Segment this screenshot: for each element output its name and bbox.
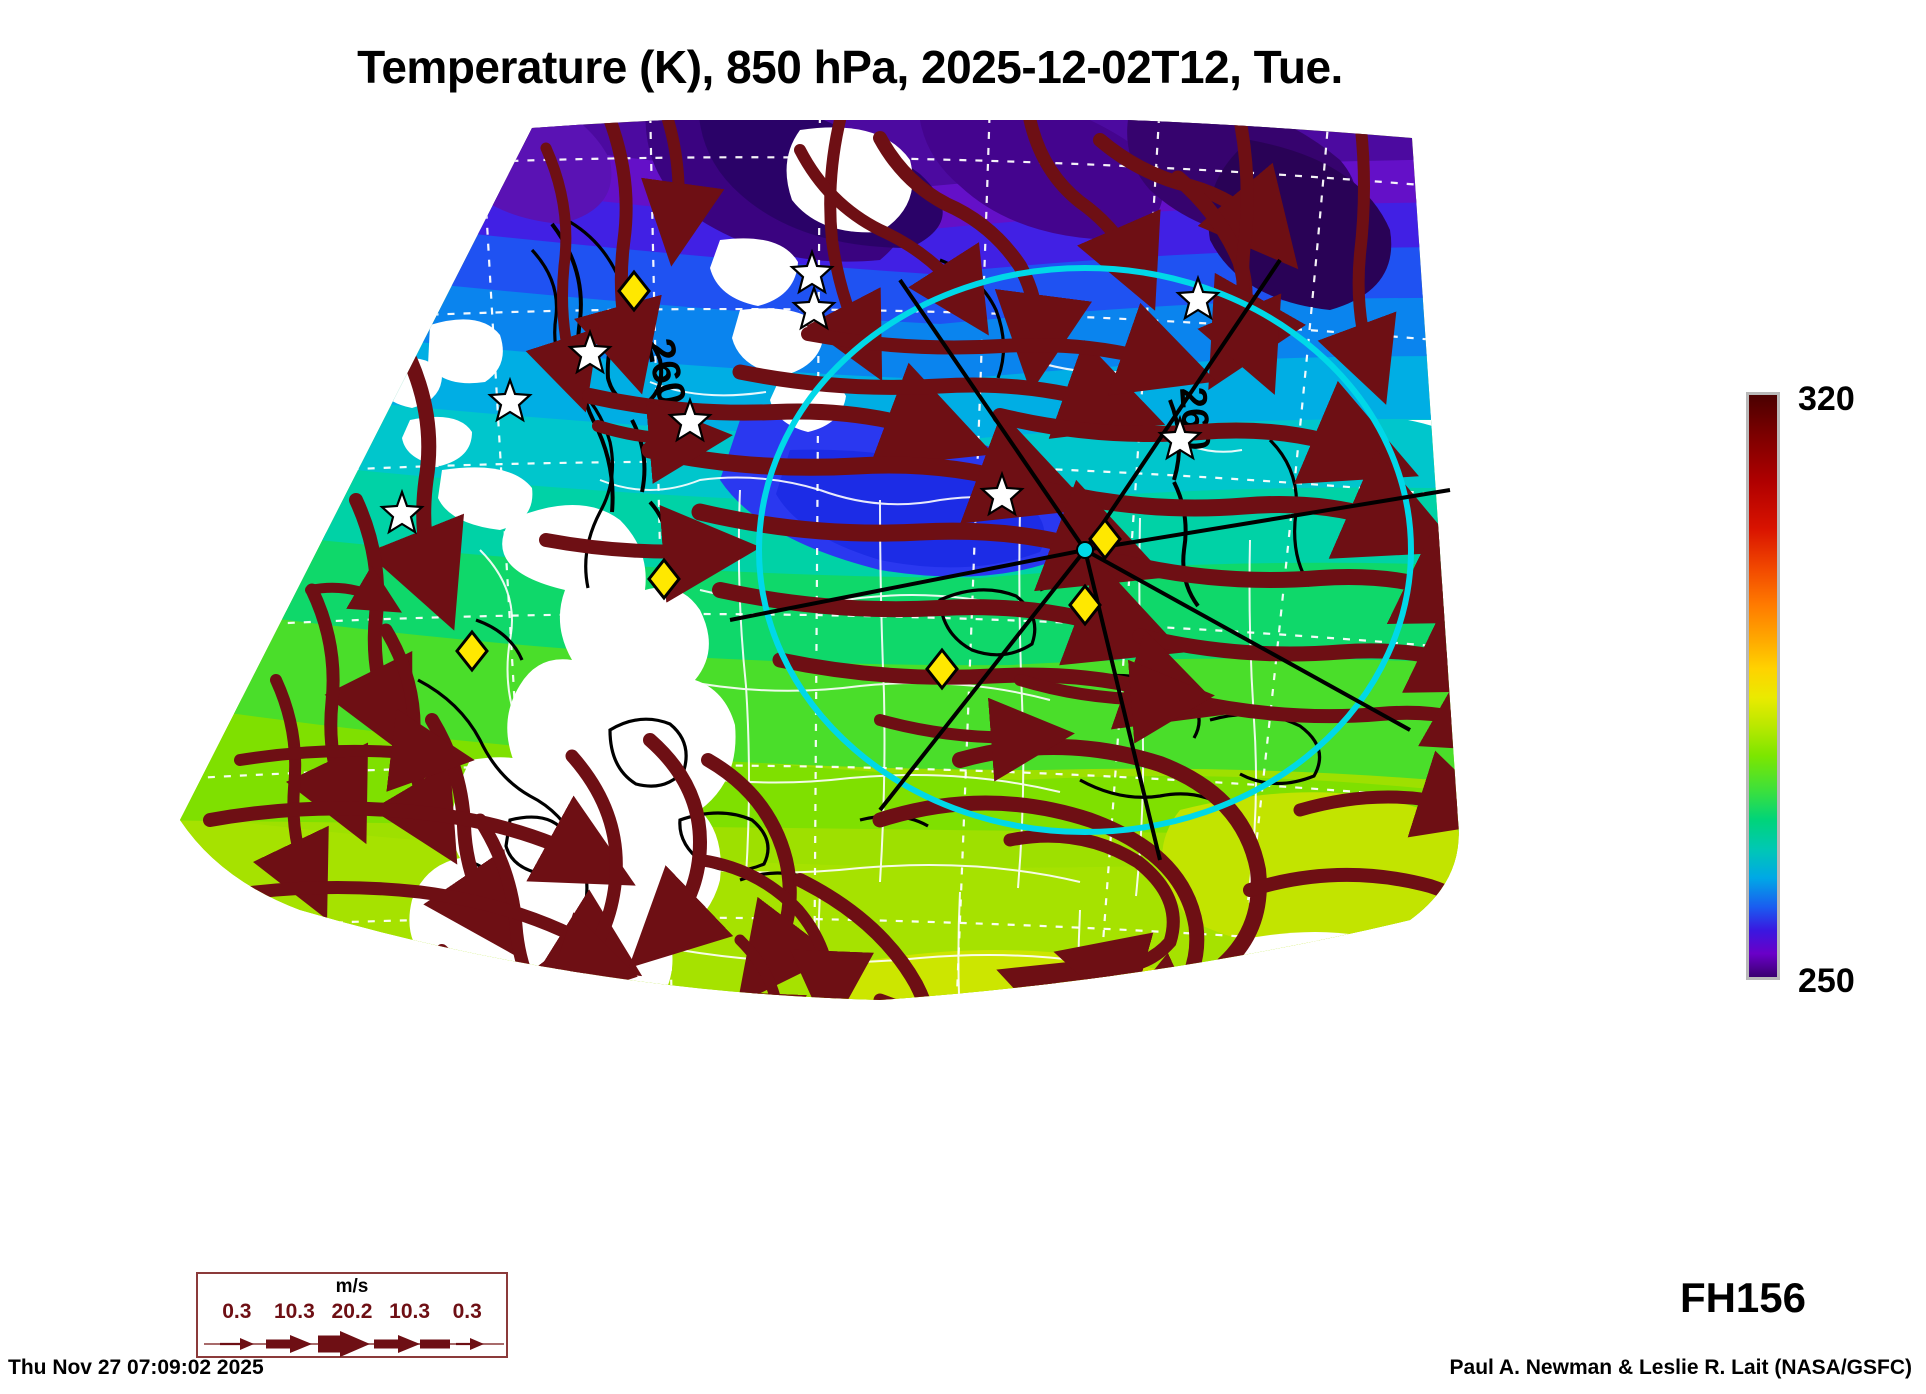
wind-tick: 20.2 <box>323 1300 381 1324</box>
wind-tick: 10.3 <box>266 1300 324 1324</box>
range-ring-center-marker[interactable] <box>1077 542 1093 558</box>
map-panel[interactable]: 260 260 <box>180 120 1700 1190</box>
wind-arrow-scale <box>198 1330 506 1358</box>
colorbar-min-label: 250 <box>1798 964 1855 998</box>
generated-timestamp: Thu Nov 27 07:09:02 2025 <box>8 1356 264 1380</box>
colorbar-max-label: 320 <box>1798 382 1855 416</box>
weather-map-svg[interactable]: 260 260 <box>180 120 1700 1190</box>
wind-tick: 0.3 <box>208 1300 266 1324</box>
wind-tick-row: 0.3 10.3 20.2 10.3 0.3 <box>198 1300 506 1324</box>
wind-tick: 0.3 <box>438 1300 496 1324</box>
forecast-hour-label: FH156 <box>1680 1274 1806 1322</box>
page-title: Temperature (K), 850 hPa, 2025-12-02T12,… <box>0 40 1700 94</box>
wind-arrow-head <box>398 1335 420 1353</box>
wind-units-label: m/s <box>198 1276 506 1298</box>
author-credit: Paul A. Newman & Leslie R. Lait (NASA/GS… <box>1450 1356 1912 1380</box>
wind-tick: 10.3 <box>381 1300 439 1324</box>
temperature-colorbar[interactable]: 320 250 <box>1742 388 1922 988</box>
wind-arrow-head <box>340 1331 370 1357</box>
wind-arrow-head <box>240 1338 254 1350</box>
colorbar-gradient[interactable] <box>1746 392 1780 980</box>
wind-arrow-svg <box>198 1330 510 1358</box>
wind-speed-legend: m/s 0.3 10.3 20.2 10.3 0.3 <box>196 1272 508 1358</box>
wind-arrow-head <box>290 1335 312 1353</box>
wind-arrow-head <box>470 1338 484 1350</box>
